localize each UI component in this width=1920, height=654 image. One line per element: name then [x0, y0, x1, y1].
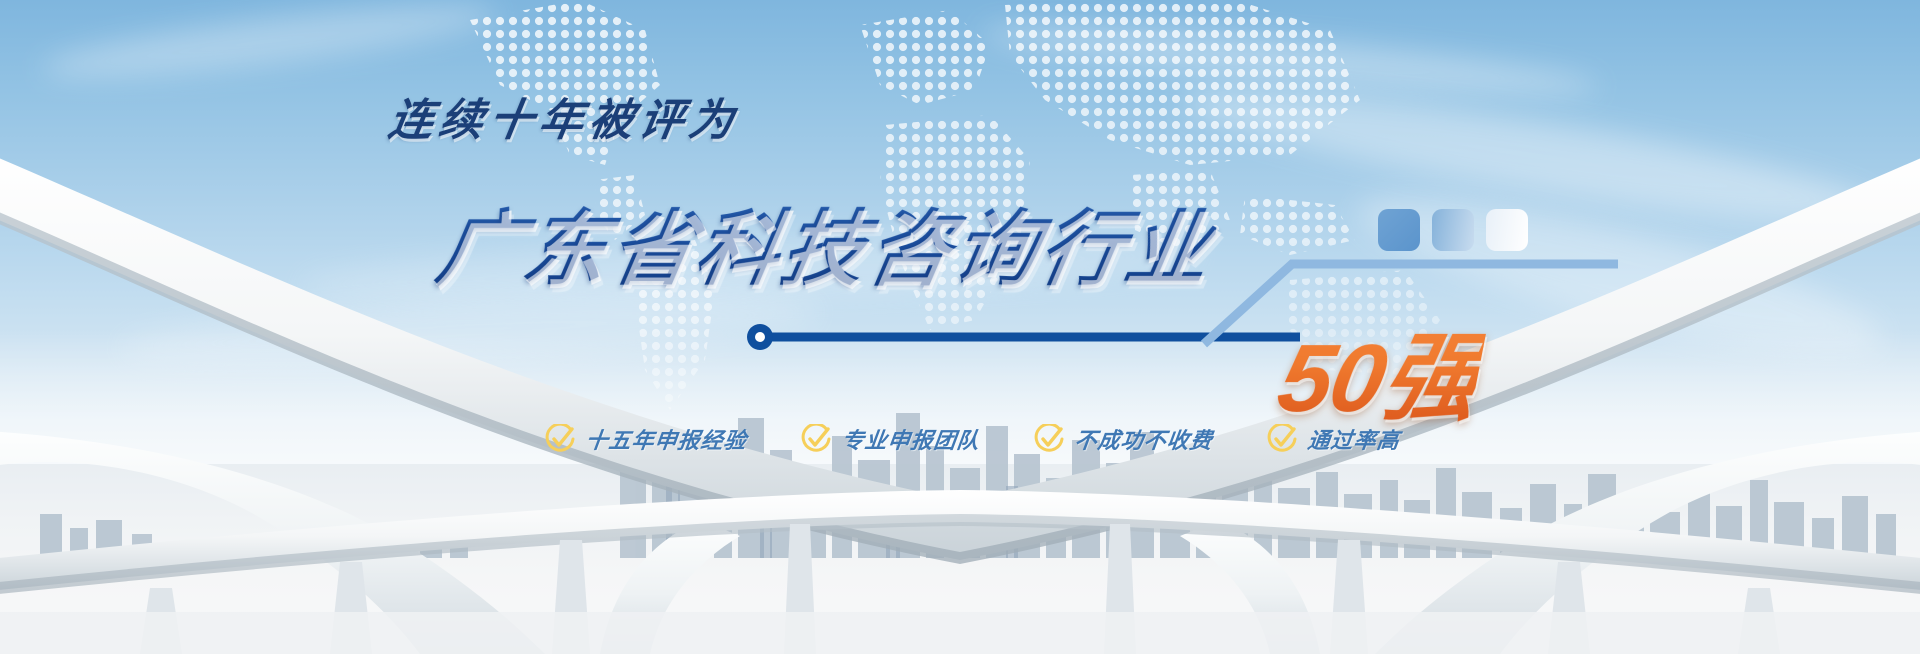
check-circle-icon — [1267, 424, 1297, 454]
check-circle-icon — [1034, 424, 1064, 454]
feature-item: 不成功不收费 — [1034, 423, 1213, 455]
chip-gradient-blue — [1432, 209, 1474, 251]
banner-kicker: 连续十年被评为 — [385, 84, 745, 148]
accent-line-with-dot — [744, 322, 1304, 352]
chip-solid-blue — [1378, 209, 1420, 251]
feature-label: 不成功不收费 — [1073, 423, 1215, 455]
feature-item: 十五年申报经验 — [545, 423, 747, 455]
feature-list: 十五年申报经验 专业申报团队 不成功不收费 — [545, 423, 1400, 455]
feature-label: 通过率高 — [1306, 423, 1402, 455]
banner-headline: 广东省科技咨询行业 — [430, 182, 1225, 301]
promo-banner: 连续十年被评为 广东省科技咨询行业 50强 — [0, 0, 1920, 654]
feature-item: 专业申报团队 — [801, 423, 980, 455]
rank-badge: 50强 — [1268, 300, 1492, 439]
chip-white — [1486, 209, 1528, 251]
feature-item: 通过率高 — [1267, 423, 1400, 455]
check-circle-icon — [545, 424, 575, 454]
check-circle-icon — [801, 424, 831, 454]
chip-group — [1378, 209, 1528, 251]
feature-label: 专业申报团队 — [840, 423, 982, 455]
banner-content: 连续十年被评为 广东省科技咨询行业 50强 — [0, 0, 1920, 654]
feature-label: 十五年申报经验 — [584, 423, 749, 455]
